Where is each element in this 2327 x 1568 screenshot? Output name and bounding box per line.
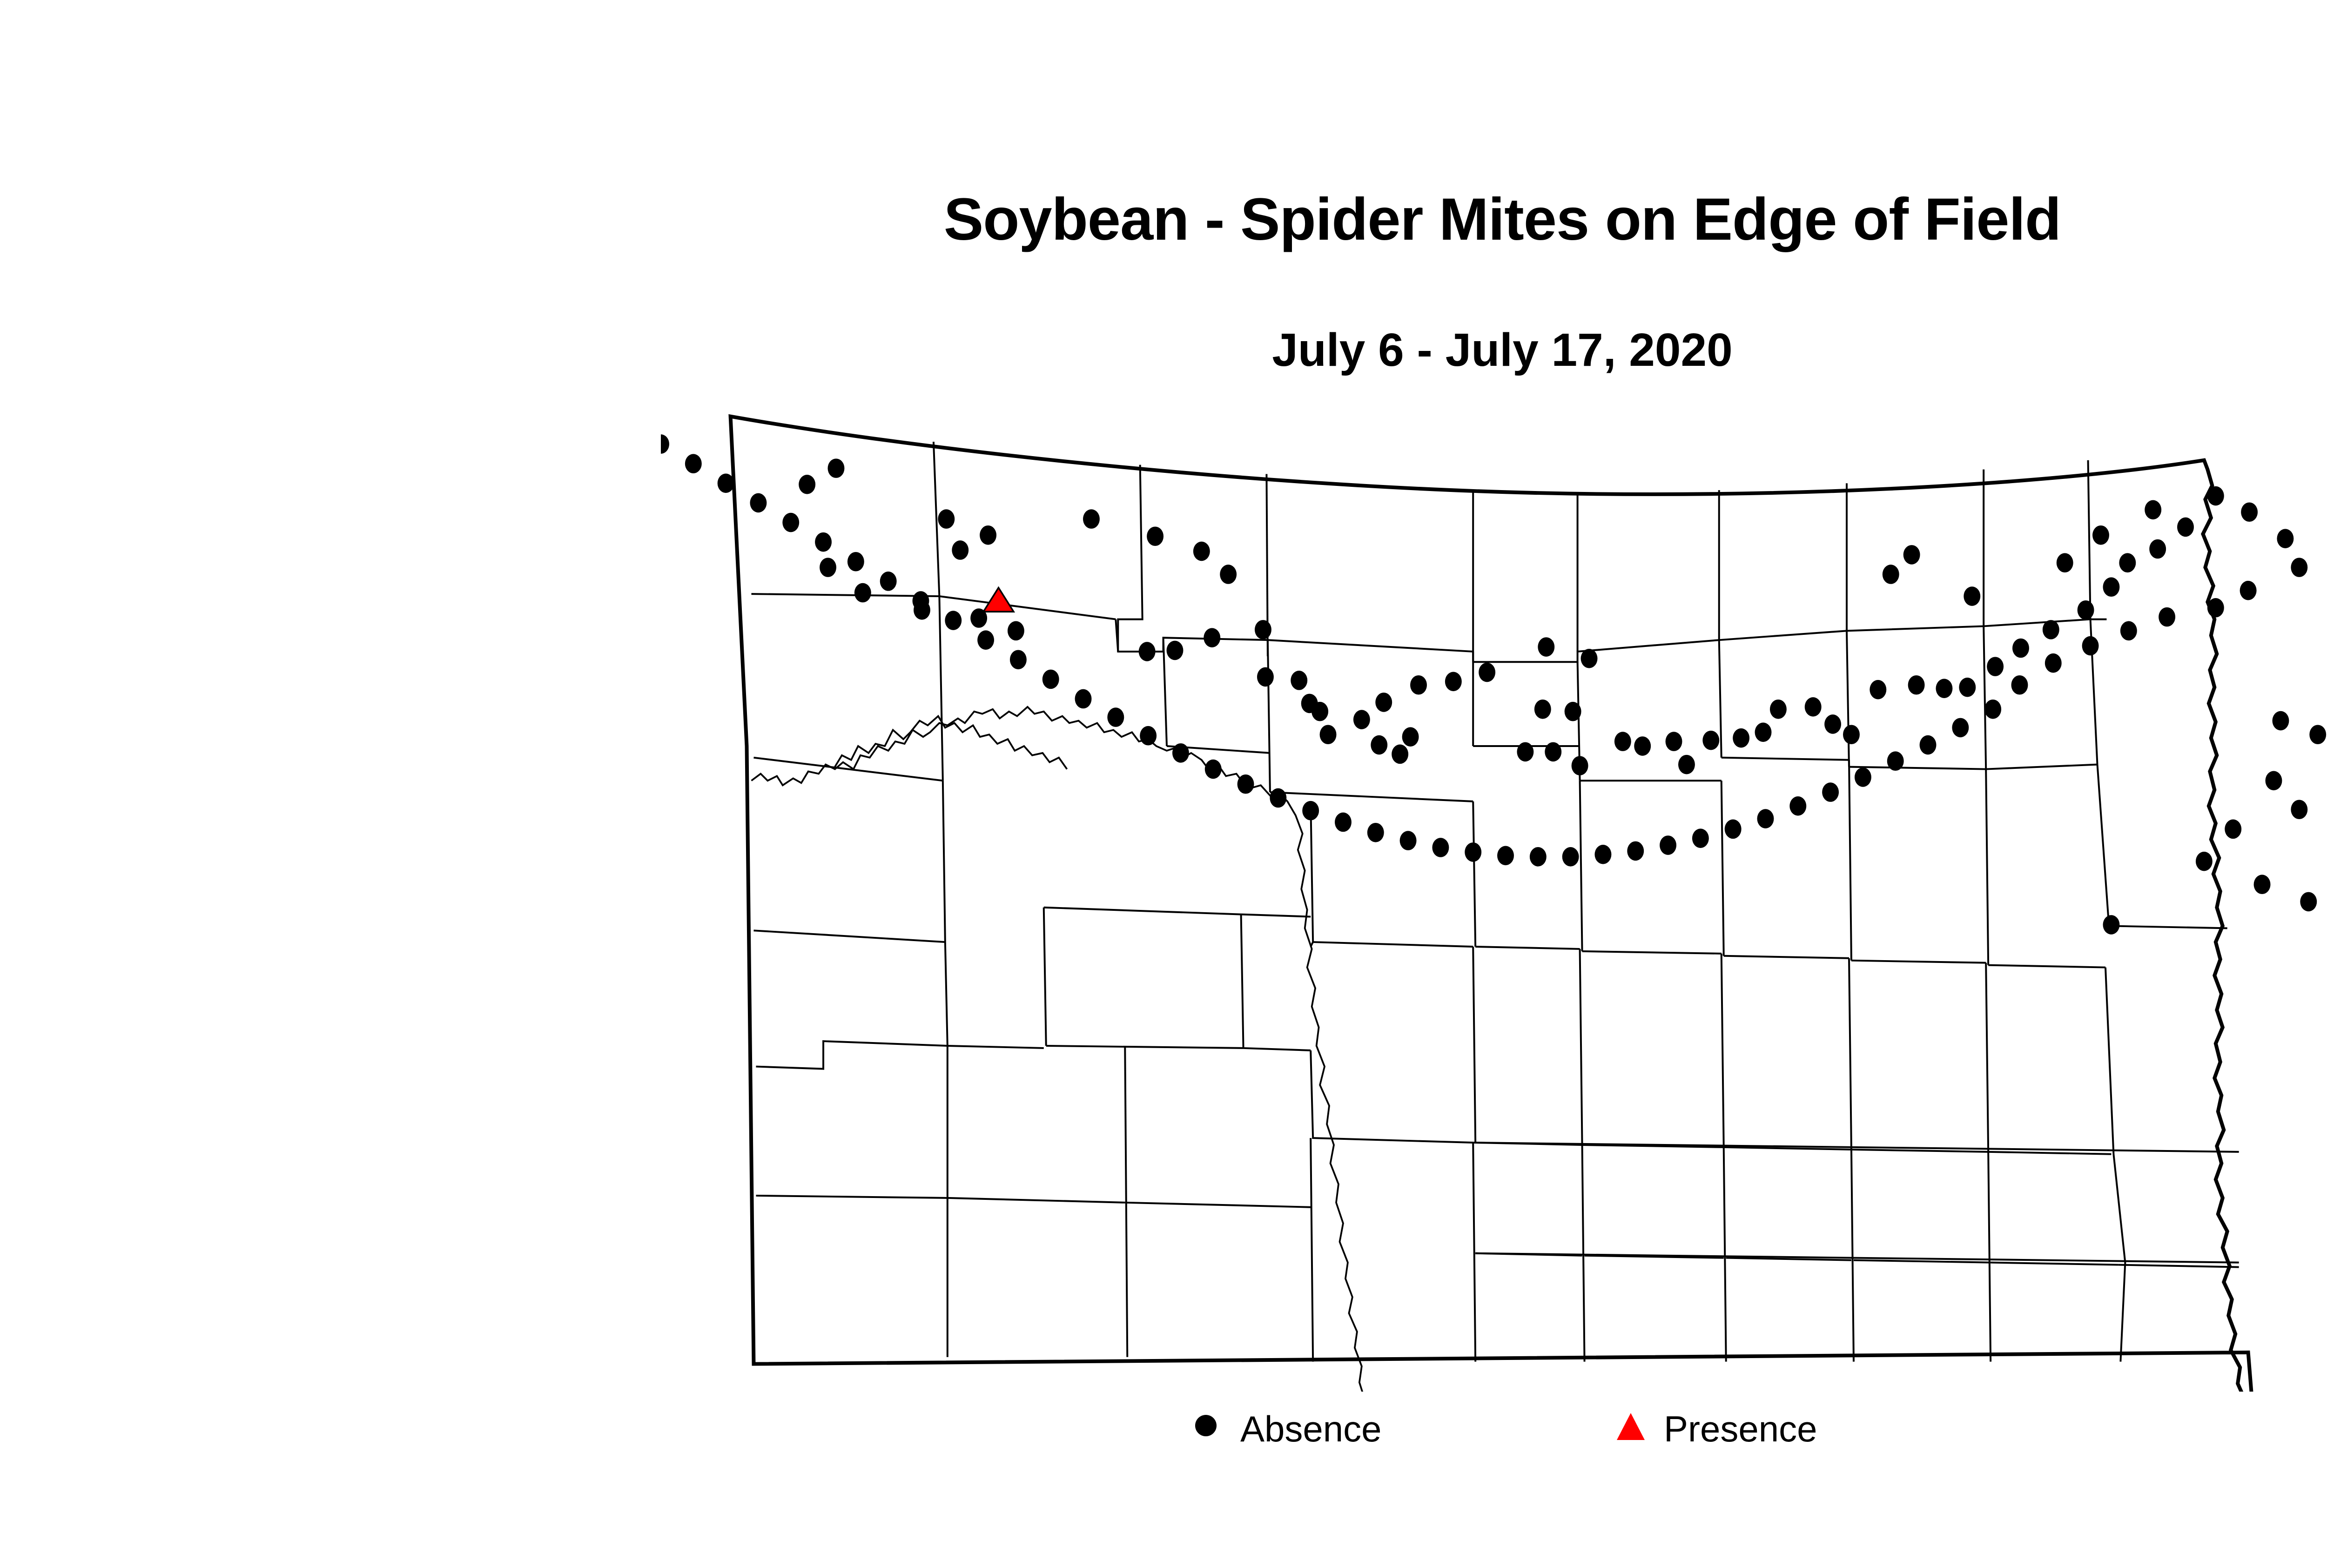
point-absence — [1702, 731, 1719, 750]
county-line — [1268, 640, 1270, 792]
point-absence — [1678, 755, 1695, 774]
point-absence — [2011, 675, 2028, 695]
figure-canvas: Soybean - Spider Mites on Edge of Field … — [0, 0, 2327, 1568]
point-absence — [2057, 553, 2073, 572]
point-absence — [977, 630, 994, 650]
county-line — [1984, 626, 1986, 769]
point-absence — [1237, 774, 1254, 794]
county-line — [1722, 781, 1724, 956]
point-absence — [1822, 782, 1839, 802]
point-absence — [1257, 667, 1274, 687]
point-absence — [1517, 742, 1533, 762]
point-absence — [2092, 525, 2109, 545]
county-line — [756, 942, 947, 1069]
county-line — [2118, 1265, 2239, 1267]
county-line — [948, 1198, 1125, 1203]
point-presence — [983, 588, 1014, 612]
point-absence — [1042, 670, 1059, 689]
point-absence — [2277, 529, 2293, 548]
point-absence — [2266, 771, 2282, 791]
point-absence — [1883, 565, 1899, 584]
point-absence — [718, 474, 734, 493]
county-line — [1311, 942, 1313, 947]
county-line — [1851, 961, 1986, 963]
county-line — [1311, 801, 1313, 942]
point-absence — [1887, 751, 1904, 771]
point-absence — [1075, 689, 1092, 709]
point-absence — [2149, 539, 2166, 559]
county-line — [1851, 1150, 1854, 1362]
point-absence — [1920, 735, 1937, 755]
point-absence — [1627, 841, 1644, 861]
point-absence — [1952, 718, 1969, 738]
county-line — [1163, 638, 1167, 746]
point-absence — [847, 552, 864, 572]
point-absence — [1572, 756, 1588, 775]
county-line — [1311, 1138, 1313, 1361]
county-line — [756, 1196, 947, 1198]
point-absence — [1402, 727, 1419, 747]
county-line — [1046, 1046, 1311, 1050]
point-absence — [1660, 835, 1676, 855]
map-svg — [661, 400, 2327, 1392]
county-line — [1270, 792, 1473, 801]
county-line — [1580, 781, 1582, 951]
point-absence — [913, 591, 929, 611]
point-absence — [1311, 702, 1328, 721]
point-absence — [2254, 875, 2271, 894]
point-absence — [2225, 820, 2241, 839]
county-line — [753, 930, 945, 942]
point-absence — [1805, 697, 1822, 717]
county-line — [1473, 1143, 1475, 1362]
county-line — [943, 781, 945, 942]
county-line — [1311, 1050, 1473, 1143]
point-absence — [1903, 545, 1920, 565]
county-line — [1847, 631, 1849, 767]
chart-title: Soybean - Spider Mites on Edge of Field — [0, 188, 2327, 251]
point-absence — [1964, 586, 1980, 606]
point-absence — [2159, 607, 2175, 627]
point-absence — [2082, 636, 2099, 656]
point-absence — [1984, 700, 2001, 719]
point-absence — [1789, 796, 1806, 816]
point-absence — [1220, 565, 1237, 584]
county-line — [2105, 968, 2113, 1154]
point-absence — [1855, 767, 1871, 787]
point-absence — [1497, 846, 1514, 866]
point-absence — [2119, 553, 2136, 572]
point-absence — [1008, 621, 1024, 641]
point-absence — [945, 611, 962, 630]
county-line — [939, 596, 1116, 619]
point-absence — [1634, 736, 1651, 756]
county-line — [751, 594, 939, 596]
county-line — [1125, 1046, 1127, 1357]
county-line — [2088, 460, 2091, 619]
point-absence — [1139, 642, 1156, 661]
point-absence — [1320, 725, 1337, 744]
county-line — [1475, 947, 1580, 949]
point-absence — [1400, 831, 1417, 850]
county-line — [1722, 954, 1724, 1147]
chart-subtitle: July 6 - July 17, 2020 — [0, 326, 2327, 375]
point-absence — [2291, 800, 2307, 819]
county-line — [1988, 1152, 1991, 1362]
county-line — [1580, 949, 1582, 1145]
point-absence — [1371, 735, 1387, 755]
point-absence — [1291, 671, 1307, 690]
point-absence — [1392, 745, 1408, 764]
county-line — [2098, 765, 2109, 926]
county-line — [1268, 640, 1473, 652]
county-line — [1854, 1260, 1991, 1263]
county-line — [1582, 1145, 1585, 1362]
point-absence — [2240, 581, 2257, 600]
county-line — [1849, 958, 1851, 1150]
point-absence — [1255, 620, 1271, 639]
point-absence — [2078, 600, 2094, 620]
point-absence — [1167, 641, 1184, 660]
county-line — [1851, 1150, 1988, 1152]
point-absence — [1530, 847, 1547, 867]
county-line — [1125, 1203, 1311, 1207]
county-line — [1241, 915, 1311, 917]
point-absence — [1465, 842, 1481, 862]
point-absence — [1534, 700, 1551, 719]
county-line — [1724, 956, 1849, 958]
point-absence — [1908, 675, 1925, 695]
point-absence — [1083, 509, 1100, 529]
county-line — [1724, 1147, 1726, 1362]
county-line — [1473, 801, 1475, 947]
legend-label-presence: Presence — [1664, 1401, 1817, 1457]
county-line — [1988, 965, 2105, 968]
point-absence — [2196, 852, 2213, 871]
point-absence — [2272, 711, 2289, 731]
point-absence — [815, 532, 832, 552]
point-absence — [1353, 710, 1370, 729]
point-absence — [1614, 732, 1631, 751]
county-line — [1988, 1152, 2111, 1154]
county-line — [1473, 947, 1475, 1143]
point-absence — [1770, 700, 1787, 719]
point-absence — [1375, 693, 1392, 712]
point-absence — [1987, 657, 2004, 676]
county-line — [1241, 915, 1244, 1048]
point-absence — [1367, 823, 1384, 842]
point-absence — [1010, 650, 1027, 669]
county-line — [2109, 926, 2227, 928]
point-absence — [880, 572, 897, 591]
point-absence — [1410, 675, 1427, 695]
state-outline — [731, 417, 2260, 1392]
county-line — [1986, 963, 1988, 1152]
point-absence — [1870, 680, 1886, 700]
point-absence — [1562, 847, 1579, 867]
point-absence — [2241, 502, 2258, 522]
point-absence — [854, 583, 871, 603]
point-absence — [661, 434, 669, 454]
county-line — [1849, 760, 1851, 961]
point-absence — [1205, 760, 1222, 779]
point-absence — [2207, 598, 2224, 618]
county-line — [1719, 640, 1722, 758]
point-absence — [1843, 725, 1860, 744]
county-line — [1722, 758, 1849, 760]
county-line — [1313, 942, 1473, 947]
point-absence — [2120, 621, 2137, 641]
point-absence — [1666, 732, 1682, 751]
point-absence — [1565, 702, 1581, 721]
point-absence — [1692, 828, 1709, 848]
county-line — [753, 758, 942, 781]
point-absence — [2103, 915, 2119, 935]
north-dakota-map — [661, 400, 2327, 1392]
legend: Absence Presence — [0, 1401, 2327, 1461]
point-absence — [1193, 542, 1210, 561]
county-boundaries — [731, 417, 2260, 1392]
point-absence — [938, 509, 955, 529]
point-absence — [1107, 707, 1124, 727]
point-absence — [828, 458, 845, 478]
absence-marker-icon — [1191, 1409, 1224, 1442]
point-absence — [1479, 663, 1495, 682]
point-absence — [2103, 577, 2119, 597]
county-line — [1473, 619, 2106, 662]
point-absence — [1204, 628, 1220, 647]
point-absence — [952, 540, 968, 560]
county-line — [2113, 1154, 2125, 1362]
point-absence — [980, 525, 996, 545]
point-absence — [1594, 845, 1611, 864]
point-absence — [2043, 620, 2059, 639]
point-absence — [1936, 679, 1952, 698]
point-absence — [1755, 722, 1772, 742]
point-absence — [2045, 653, 2062, 673]
point-absence — [1733, 728, 1749, 748]
point-absence — [1147, 526, 1163, 546]
survey-points — [661, 434, 2326, 934]
county-line — [1118, 465, 1163, 652]
point-absence — [1140, 726, 1157, 746]
point-absence — [1581, 649, 1598, 668]
point-absence — [685, 454, 702, 473]
county-line — [1991, 1263, 2118, 1265]
presence-marker-icon — [1615, 1409, 1648, 1442]
point-absence — [750, 493, 767, 513]
point-absence — [1824, 714, 1841, 734]
point-absence — [1725, 820, 1742, 839]
point-absence — [2291, 558, 2307, 577]
point-absence — [1959, 678, 1976, 697]
county-line — [948, 1046, 1044, 1048]
point-absence — [1335, 813, 1352, 832]
county-line — [1849, 765, 2098, 769]
county-line — [939, 596, 942, 781]
point-absence — [2309, 725, 2326, 744]
point-absence — [2012, 639, 2029, 658]
county-line — [1044, 908, 1046, 1046]
point-absence — [2177, 518, 2194, 537]
point-absence — [1172, 743, 1189, 763]
point-absence — [799, 475, 815, 494]
point-absence — [1432, 838, 1449, 857]
point-absence — [2207, 486, 2224, 506]
point-absence — [1270, 788, 1286, 808]
point-absence — [2145, 500, 2161, 519]
point-absence — [1302, 801, 1319, 821]
point-absence — [782, 513, 799, 532]
point-absence — [820, 558, 836, 577]
county-line — [1582, 951, 1722, 954]
point-absence — [1445, 672, 1462, 692]
legend-label-absence: Absence — [1240, 1401, 1382, 1457]
lake-outline — [835, 716, 1067, 769]
point-absence — [1545, 742, 1561, 762]
point-absence — [1757, 809, 1774, 828]
point-absence — [2300, 892, 2317, 912]
point-absence — [1538, 637, 1554, 657]
county-line — [1044, 908, 1241, 915]
county-line — [1986, 769, 1988, 965]
